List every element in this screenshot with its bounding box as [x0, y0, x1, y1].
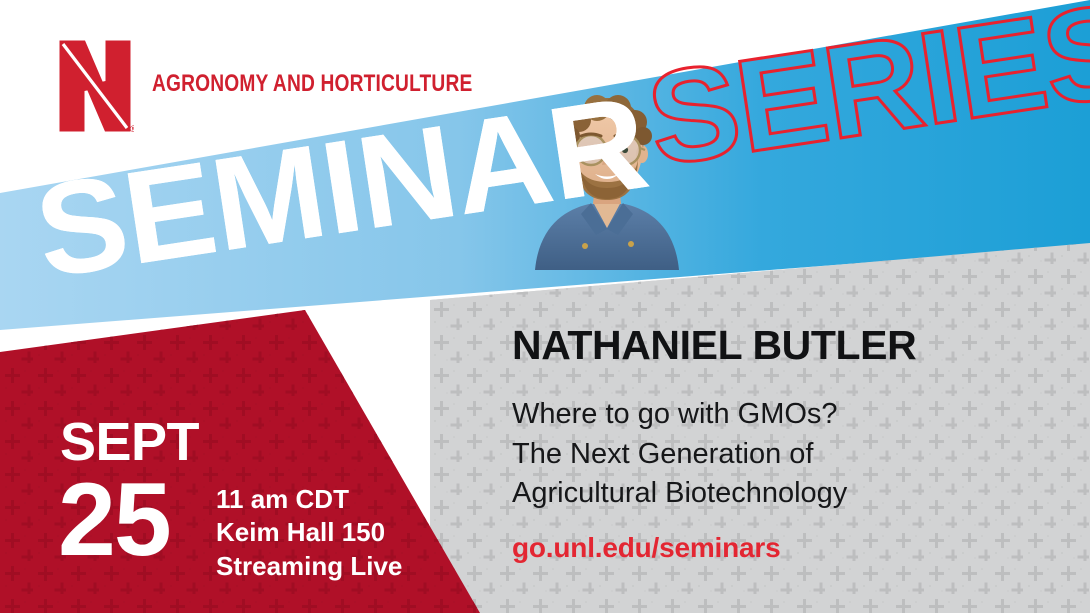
event-month: SEPT: [60, 415, 199, 469]
event-time: 11 am CDT: [216, 483, 402, 516]
svg-text:®: ®: [130, 124, 134, 134]
seminar-poster: SERIES: [0, 0, 1090, 613]
topic-line-1: Where to go with GMOs?: [512, 395, 847, 435]
topic-line-3: Agricultural Biotechnology: [512, 474, 847, 514]
seminars-url-link[interactable]: go.unl.edu/seminars: [512, 534, 780, 562]
event-details: 11 am CDT Keim Hall 150 Streaming Live: [216, 483, 402, 583]
event-location: Keim Hall 150: [216, 516, 402, 549]
seminar-topic: Where to go with GMOs? The Next Generati…: [512, 395, 847, 514]
topic-line-2: The Next Generation of: [512, 435, 847, 475]
event-streaming: Streaming Live: [216, 550, 402, 583]
speaker-name: NATHANIEL BUTLER: [512, 325, 916, 366]
event-day: 25: [58, 468, 170, 572]
nebraska-n-logo-icon: ®: [56, 37, 134, 135]
unit-name: AGRONOMY AND HORTICULTURE: [152, 70, 472, 98]
